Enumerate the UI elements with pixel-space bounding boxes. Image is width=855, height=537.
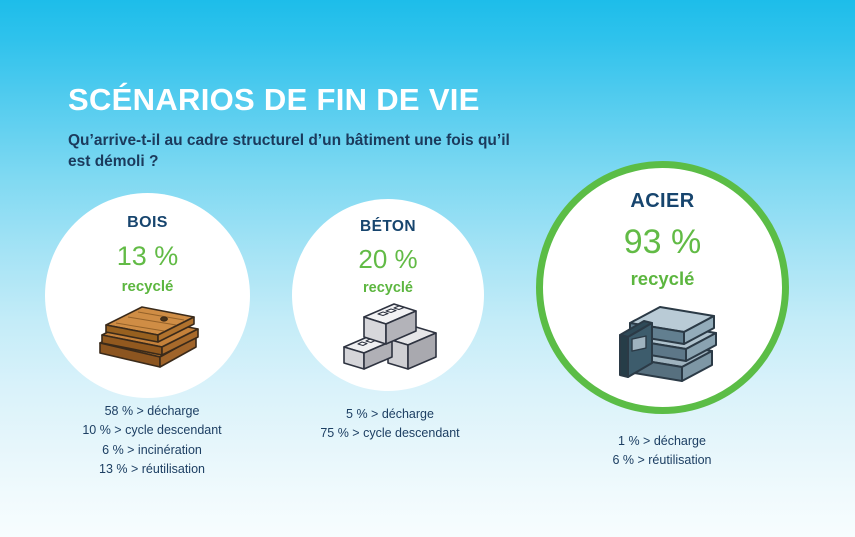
detail-line: 58 % > décharge	[52, 402, 252, 421]
material-details-bois: 58 % > décharge 10 % > cycle descendant …	[52, 402, 252, 480]
detail-line: 13 % > réutilisation	[52, 460, 252, 479]
material-card-bois[interactable]: BOIS 13 % recyclé	[45, 193, 250, 398]
page-subtitle: Qu’arrive-t-il au cadre structurel d’un …	[68, 130, 523, 173]
material-recycled-label-bois: recyclé	[122, 279, 174, 294]
steel-beams-icon	[604, 289, 722, 398]
detail-line: 1 % > décharge	[562, 432, 762, 451]
detail-line: 75 % > cycle descendant	[290, 424, 490, 443]
material-card-beton[interactable]: BÉTON 20 % recyclé	[292, 199, 484, 391]
wood-planks-icon	[92, 297, 204, 374]
infographic-canvas: SCÉNARIOS DE FIN DE VIE Qu’arrive-t-il a…	[0, 0, 855, 537]
material-percent-bois: 13 %	[117, 243, 179, 270]
circle-content-acier: ACIER 93 % recyclé	[536, 161, 789, 414]
detail-line: 6 % > incinération	[52, 441, 252, 460]
material-name-acier: ACIER	[630, 191, 694, 211]
material-recycled-label-beton: recyclé	[363, 281, 413, 296]
material-percent-beton: 20 %	[358, 246, 417, 272]
material-recycled-label-acier: recyclé	[631, 270, 695, 289]
detail-line: 10 % > cycle descendant	[52, 421, 252, 440]
detail-line: 6 % > réutilisation	[562, 451, 762, 470]
detail-line: 5 % > décharge	[290, 405, 490, 424]
material-details-beton: 5 % > décharge 75 % > cycle descendant	[290, 405, 490, 444]
concrete-blocks-icon	[336, 295, 440, 380]
material-card-acier[interactable]: ACIER 93 % recyclé	[536, 161, 789, 414]
header: SCÉNARIOS DE FIN DE VIE Qu’arrive-t-il a…	[68, 84, 588, 172]
circle-content-beton: BÉTON 20 % recyclé	[292, 199, 484, 391]
page-title: SCÉNARIOS DE FIN DE VIE	[68, 84, 588, 117]
material-details-acier: 1 % > décharge 6 % > réutilisation	[562, 432, 762, 471]
material-name-beton: BÉTON	[360, 219, 416, 235]
material-name-bois: BOIS	[127, 215, 168, 231]
material-percent-acier: 93 %	[624, 225, 702, 259]
circle-content-bois: BOIS 13 % recyclé	[45, 193, 250, 398]
